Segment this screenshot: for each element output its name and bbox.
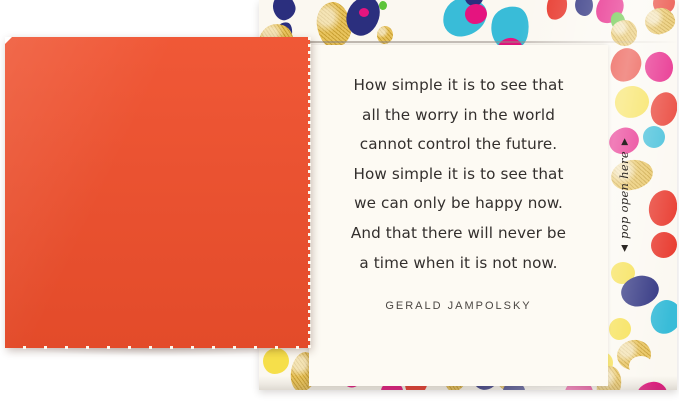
- quote-line: we can only be happy now.: [354, 189, 563, 219]
- confetti-blob-magenta: [606, 124, 642, 157]
- confetti-blob-yellow: [609, 318, 631, 340]
- confetti-blob-magenta: [643, 50, 675, 84]
- quote-author: GERALD JAMPOLSKY: [385, 300, 531, 312]
- confetti-blob-red: [651, 232, 677, 258]
- confetti-blob-red: [647, 89, 677, 128]
- confetti-blob-magenta: [359, 8, 369, 17]
- product-photo-canvas: How simple it is to see that all the wor…: [0, 0, 679, 411]
- confetti-blob-navy: [573, 0, 595, 17]
- confetti-blob-yellow: [614, 85, 650, 119]
- card-perforated-edge: [308, 37, 311, 348]
- quote-line: a time when it is not now.: [359, 249, 557, 279]
- quote-text-block: How simple it is to see that all the wor…: [309, 45, 608, 386]
- confetti-blob-gold: [610, 158, 655, 192]
- confetti-blob-cyan: [649, 298, 677, 336]
- confetti-blob-red: [608, 46, 643, 85]
- card-spine-crease: [259, 41, 677, 43]
- confetti-blob-red: [544, 0, 569, 22]
- confetti-blob-cyan: [643, 126, 665, 148]
- quote-panel[interactable]: How simple it is to see that all the wor…: [309, 45, 608, 386]
- confetti-blob-red: [646, 188, 677, 228]
- confetti-blob-green: [379, 1, 387, 10]
- quote-line: cannot control the future.: [360, 130, 557, 160]
- quote-line: all the worry in the world: [362, 101, 555, 131]
- card-perforated-bottom-edge: [5, 346, 310, 349]
- orange-card-surface: [5, 37, 310, 348]
- quote-line: How simple it is to see that: [353, 160, 563, 190]
- quote-line: And that there will never be: [351, 219, 566, 249]
- orange-card-front[interactable]: [5, 37, 310, 348]
- confetti-blob-navy: [270, 0, 299, 23]
- confetti-blob-gold: [610, 19, 639, 48]
- confetti-blob-cream: [629, 356, 653, 376]
- quote-line: How simple it is to see that: [353, 71, 563, 101]
